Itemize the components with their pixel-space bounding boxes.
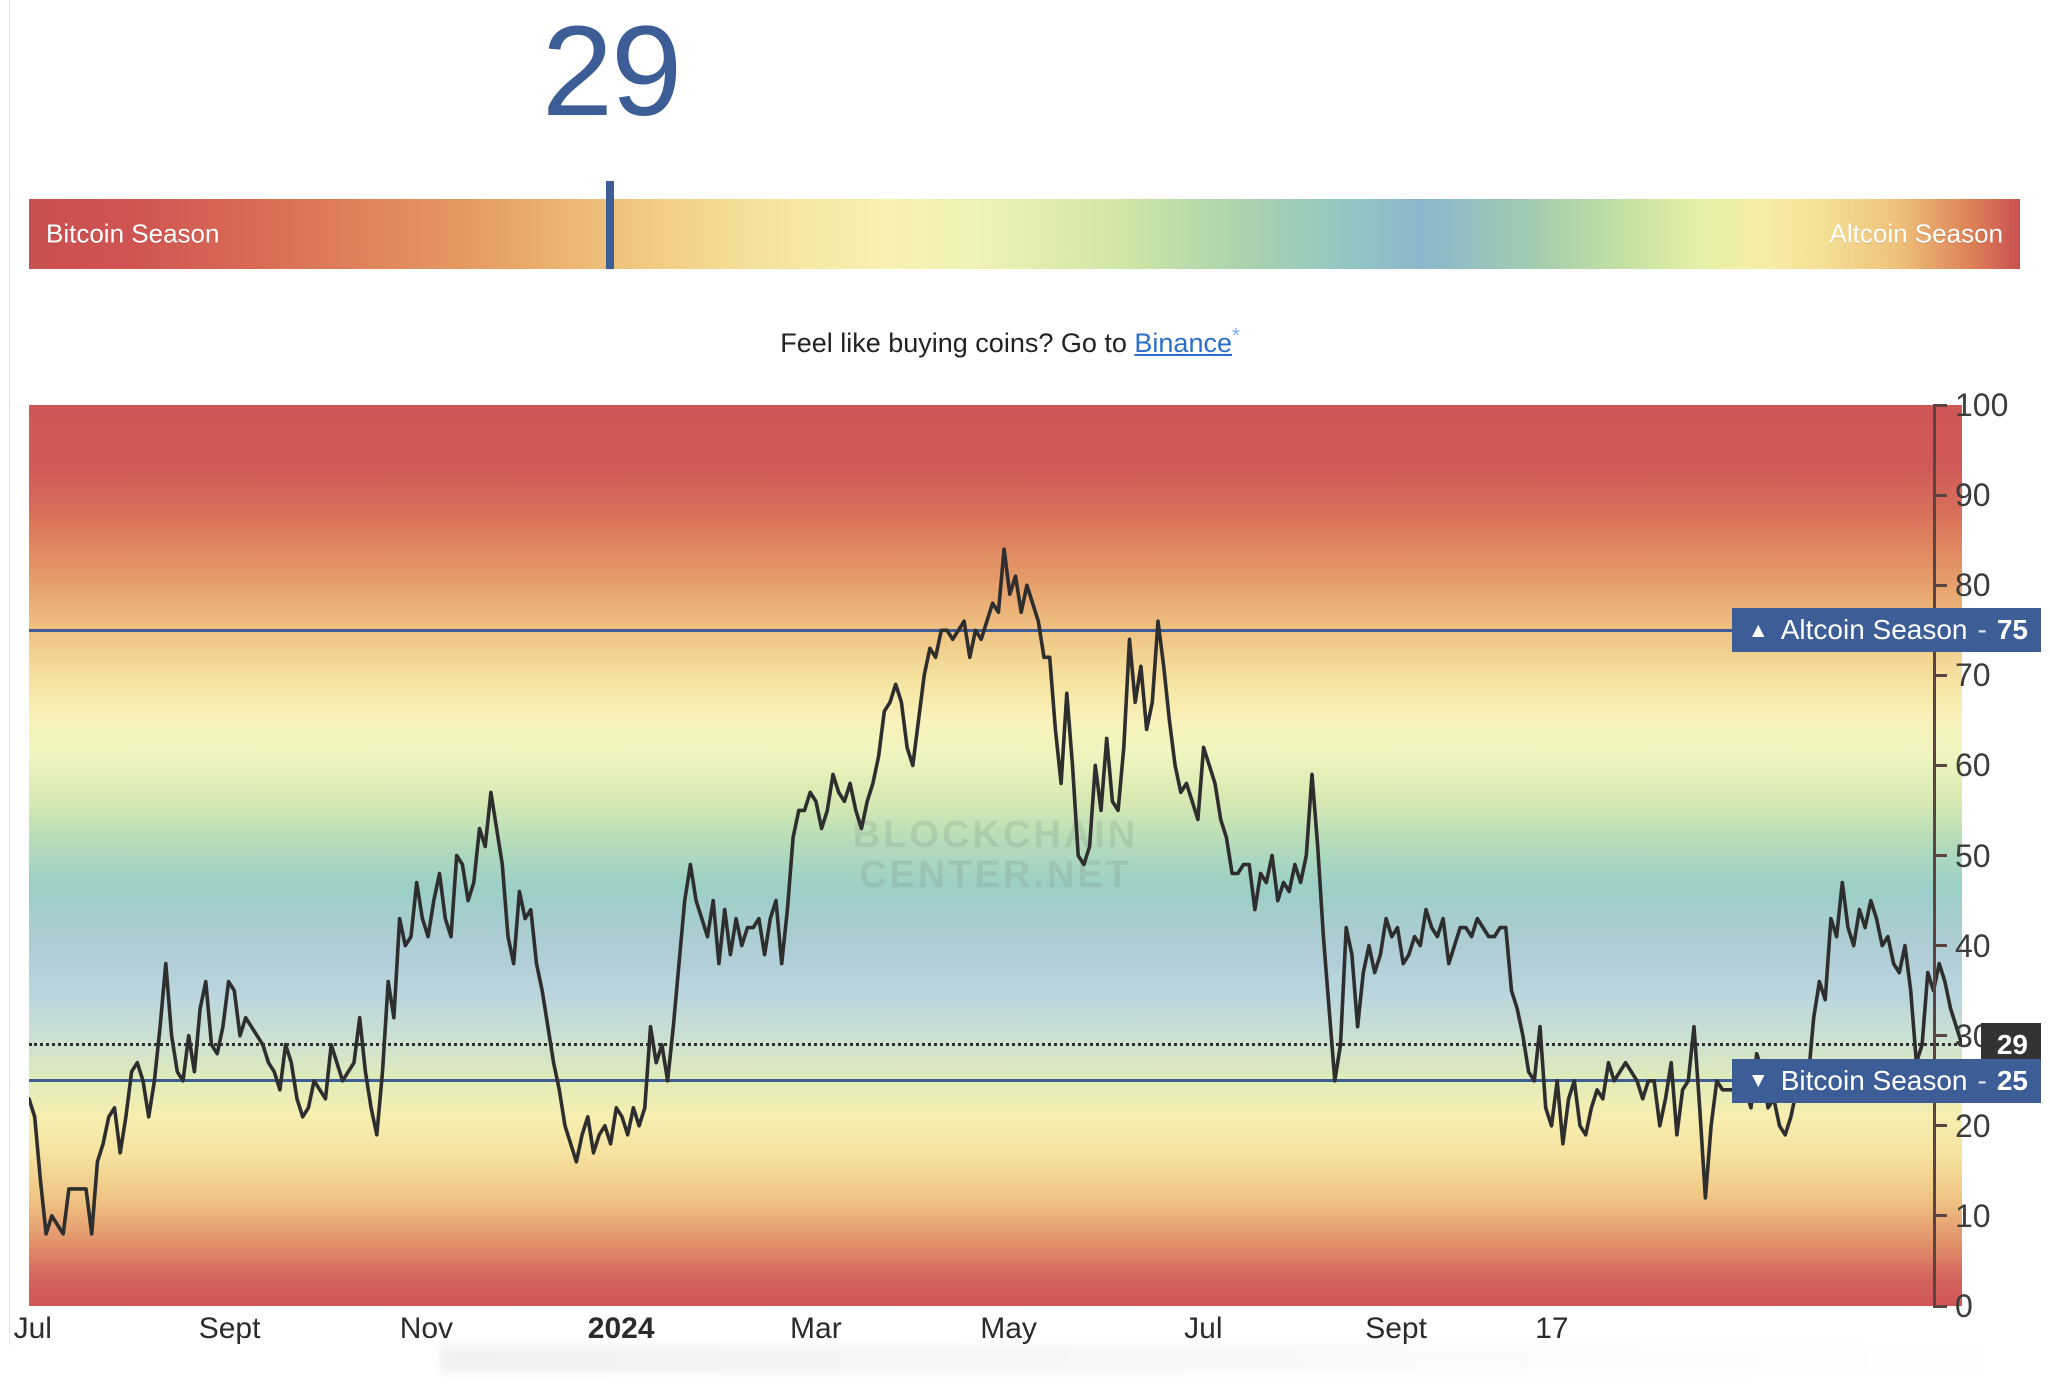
y-axis-labels: 1009080706050403020100 (1933, 405, 2048, 1306)
badge-altcoin-season[interactable]: ▲ Altcoin Season - 75 (1732, 608, 2041, 652)
altcoin-season-index-page: 29 Bitcoin Season Altcoin Season Feel li… (0, 0, 2050, 1400)
x-axis-tick-sept: Sept (1365, 1312, 1427, 1346)
season-gauge-label-bitcoin: Bitcoin Season (46, 219, 219, 250)
tick-mark (1933, 584, 1947, 587)
promo-prefix: Feel like buying coins? Go to (780, 328, 1134, 358)
tick-label: 20 (1955, 1110, 1991, 1142)
tick-mark (1933, 944, 1947, 947)
tick-mark (1933, 404, 1947, 407)
x-axis-tick-17: 17 (1535, 1312, 1568, 1346)
badge-altcoin-dash: - (1978, 614, 1987, 646)
index-value: 29 (0, 8, 1222, 136)
promo-line: Feel like buying coins? Go to Binance* (0, 325, 2020, 359)
badge-altcoin-label: Altcoin Season (1781, 614, 1968, 646)
tick-mark (1933, 1214, 1947, 1217)
tick-label: 100 (1955, 389, 2008, 421)
badge-bitcoin-value: 25 (1997, 1065, 2028, 1097)
tick-label: 50 (1955, 840, 1991, 872)
x-axis-tick-may: May (980, 1312, 1037, 1346)
x-axis-tick-2024: 2024 (588, 1312, 655, 1346)
tick-mark (1933, 1305, 1947, 1308)
tick-mark (1933, 1034, 1947, 1037)
tick-label: 80 (1955, 569, 1991, 601)
season-gauge-label-altcoin: Altcoin Season (1830, 219, 2003, 250)
x-axis-tick-jul: Jul (1184, 1312, 1222, 1346)
tick-label: 70 (1955, 659, 1991, 691)
triangle-down-icon: ▼ (1748, 1070, 1769, 1091)
badge-bitcoin-dash: - (1978, 1065, 1987, 1097)
x-axis-tick-sept: Sept (199, 1312, 261, 1346)
triangle-up-icon: ▲ (1748, 620, 1769, 641)
index-line-series (29, 405, 1962, 1306)
binance-link[interactable]: Binance (1134, 328, 1232, 358)
tick-label: 90 (1955, 479, 1991, 511)
badge-altcoin-value: 75 (1997, 614, 2028, 646)
season-gauge-marker (606, 181, 614, 269)
badge-bitcoin-label: Bitcoin Season (1781, 1065, 1968, 1097)
tick-label: 60 (1955, 749, 1991, 781)
promo-asterisk: * (1232, 325, 1240, 347)
tick-label: 10 (1955, 1200, 1991, 1232)
tick-label: 40 (1955, 930, 1991, 962)
x-axis-tick-nov: Nov (400, 1312, 453, 1346)
season-gauge-gradient (29, 199, 2020, 269)
tick-mark (1933, 1124, 1947, 1127)
badge-current-value-text: 29 (1997, 1029, 2028, 1061)
x-axis-tick-jul: Jul (14, 1312, 52, 1346)
x-axis-tick-mar: Mar (790, 1312, 842, 1346)
tick-mark (1933, 494, 1947, 497)
page-left-rule (9, 0, 10, 1345)
tick-mark (1933, 674, 1947, 677)
bottom-shadow (440, 1345, 2040, 1373)
season-gauge[interactable]: Bitcoin Season Altcoin Season (29, 199, 2020, 269)
tick-mark (1933, 764, 1947, 767)
chart-plot-area[interactable]: BLOCKCHAIN CENTER.NET (29, 405, 1962, 1306)
tick-mark (1933, 854, 1947, 857)
badge-bitcoin-season[interactable]: ▼ Bitcoin Season - 25 (1732, 1059, 2041, 1103)
